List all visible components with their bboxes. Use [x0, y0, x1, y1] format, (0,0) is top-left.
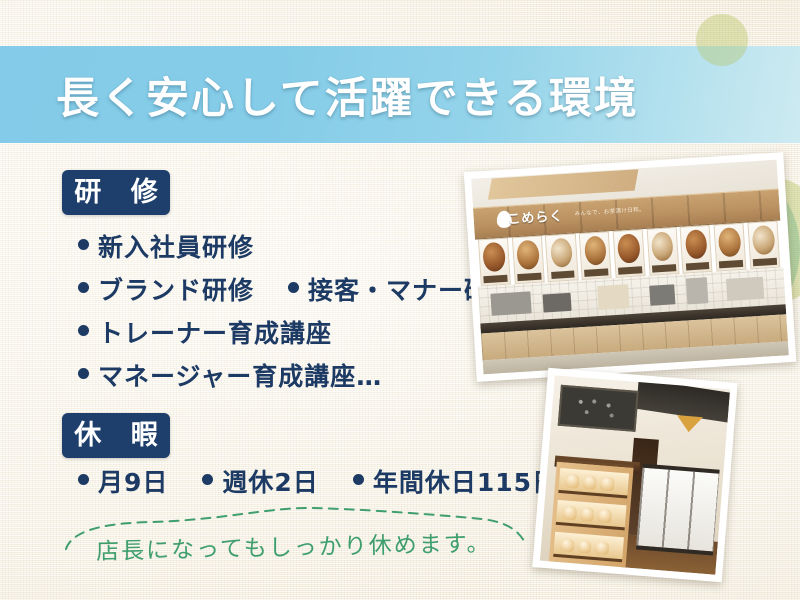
bullet-dot-icon: [78, 282, 89, 293]
photo-cafe-image: [540, 375, 730, 575]
list-row: 新入社員研修: [78, 228, 516, 264]
store-equipment: [543, 292, 572, 312]
list-item: トレーナー育成講座: [78, 314, 332, 350]
cafe-display-item: [580, 507, 595, 522]
list-item: 新入社員研修: [78, 228, 254, 264]
cafe-pendant-lamp: [676, 415, 703, 433]
menu-photo-card: [714, 223, 747, 272]
store-equipment: [726, 276, 764, 301]
list-item: 月9日: [78, 463, 168, 499]
photo-cafe-interior: [532, 368, 737, 583]
cafe-display-item: [565, 474, 580, 489]
menu-photo-card: [680, 225, 713, 274]
list-item-label: 週休2日: [222, 463, 318, 499]
photo-storefront-image: こめらく みんなで、お茶漬け日和。: [471, 160, 789, 375]
list-item: マネージャー育成講座…: [78, 357, 382, 393]
cafe-display-shelf-unit: [549, 458, 634, 567]
bullet-dot-icon: [353, 474, 364, 485]
cafe-display-item: [559, 538, 574, 553]
bullet-dot-icon: [288, 282, 299, 293]
section-badge-training: 研 修: [62, 170, 170, 215]
menu-photo-card: [512, 235, 545, 284]
bullet-dot-icon: [202, 474, 213, 485]
cafe-cabinet: [636, 464, 720, 556]
store-equipment: [650, 284, 676, 305]
cafe-shelf: [556, 500, 626, 530]
list-row: トレーナー育成講座: [78, 314, 516, 350]
holiday-list: 月9日 週休2日 年間休日115日: [78, 463, 558, 499]
section-badge-holiday: 休 暇: [62, 413, 170, 458]
list-item-label: ブランド研修: [98, 271, 254, 307]
store-logo-text: こめらく: [507, 205, 564, 227]
bullet-dot-icon: [78, 325, 89, 336]
list-item-label: トレーナー育成講座: [98, 314, 332, 350]
menu-photo-card: [613, 229, 646, 278]
list-item-label: 月9日: [98, 463, 168, 499]
page-title: 長く安心して活躍できる環境: [56, 64, 639, 126]
list-item: ブランド研修: [78, 271, 254, 307]
bullet-dot-icon: [78, 474, 89, 485]
list-item-label: 年間休日115日: [373, 463, 558, 499]
store-equipment: [597, 284, 629, 310]
training-list: 新入社員研修 ブランド研修 接客・マナー研修 トレーナー育成講座 マネージャー育…: [78, 228, 516, 400]
cafe-chalkboard-menu: [558, 385, 639, 432]
menu-photo-card: [545, 233, 578, 282]
cafe-display-item: [595, 541, 610, 556]
cafe-display-item: [597, 509, 612, 524]
list-item-label: 新入社員研修: [98, 228, 254, 264]
list-item-label: マネージャー育成講座…: [98, 357, 382, 393]
menu-photo-card: [478, 237, 511, 286]
store-equipment: [491, 292, 532, 316]
banner-decorative-circle-small: [696, 46, 748, 66]
handwritten-caption: 店長になってもしっかり休めます。: [96, 524, 492, 566]
cafe-display-item: [582, 475, 597, 490]
bullet-dot-icon: [78, 368, 89, 379]
photo-storefront: こめらく みんなで、お茶漬け日和。: [464, 152, 797, 382]
list-row: マネージャー育成講座…: [78, 357, 516, 393]
list-row: ブランド研修 接客・マナー研修: [78, 271, 516, 307]
cafe-shelf: [554, 532, 624, 562]
list-row: 月9日 週休2日 年間休日115日: [78, 463, 558, 499]
cafe-display-item: [577, 539, 592, 554]
store-ceiling-panel: [488, 170, 638, 200]
cafe-display-item: [600, 477, 615, 492]
slide-canvas: 長く安心して活躍できる環境 研 修 新入社員研修 ブランド研修 接客・マナー研修…: [0, 0, 800, 600]
list-item: 週休2日: [202, 463, 318, 499]
store-equipment: [686, 277, 709, 304]
cafe-display-item: [562, 506, 577, 521]
list-item: 年間休日115日: [353, 463, 558, 499]
menu-photo-card: [747, 220, 780, 269]
bullet-dot-icon: [78, 239, 89, 250]
cafe-shelf: [559, 468, 629, 498]
menu-photo-card: [646, 227, 679, 276]
menu-photo-card: [579, 231, 612, 280]
title-banner: 長く安心して活躍できる環境: [0, 46, 800, 143]
